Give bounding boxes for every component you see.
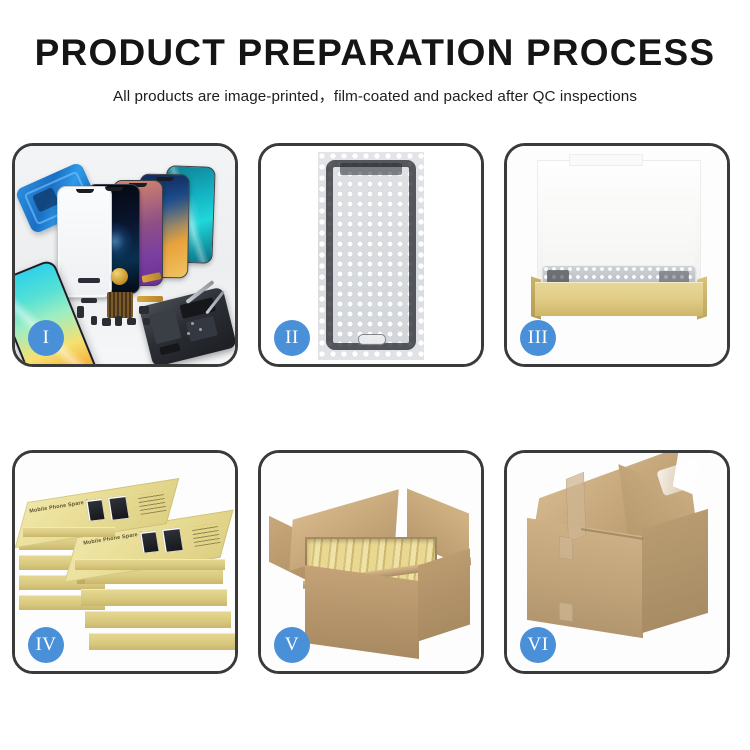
carton-side-panel-icon [642,509,708,633]
step-card-1[interactable]: I [12,143,238,367]
header: PRODUCT PREPARATION PROCESS All products… [0,0,750,106]
bubble-wrapped-screen-icon [326,160,416,350]
page-title: PRODUCT PREPARATION PROCESS [0,34,750,73]
step-card-4[interactable]: Mobile Phone Spare Parts Mobile Phone Sp… [12,450,238,674]
step-card-5[interactable]: V [258,450,484,674]
carton-tape-icon [566,472,586,542]
step-badge-6: VI [520,627,556,663]
product-preparation-infographic: PRODUCT PREPARATION PROCESS All products… [0,0,750,750]
box-front-panel-icon [535,282,703,316]
step-badge-4: IV [28,627,64,663]
process-steps-grid: I II [12,143,738,674]
carton-front-panel-icon [305,565,419,659]
step-card-6[interactable]: VI [504,450,730,674]
step-badge-5: V [274,627,310,663]
step-card-3[interactable]: III [504,143,730,367]
box-lid-tab-icon [569,154,643,166]
page-subtitle: All products are image-printed，film-coat… [0,84,750,106]
step-badge-2: II [274,320,310,356]
step-badge-3: III [520,320,556,356]
step-card-2[interactable]: II [258,143,484,367]
step-badge-1: I [28,320,64,356]
